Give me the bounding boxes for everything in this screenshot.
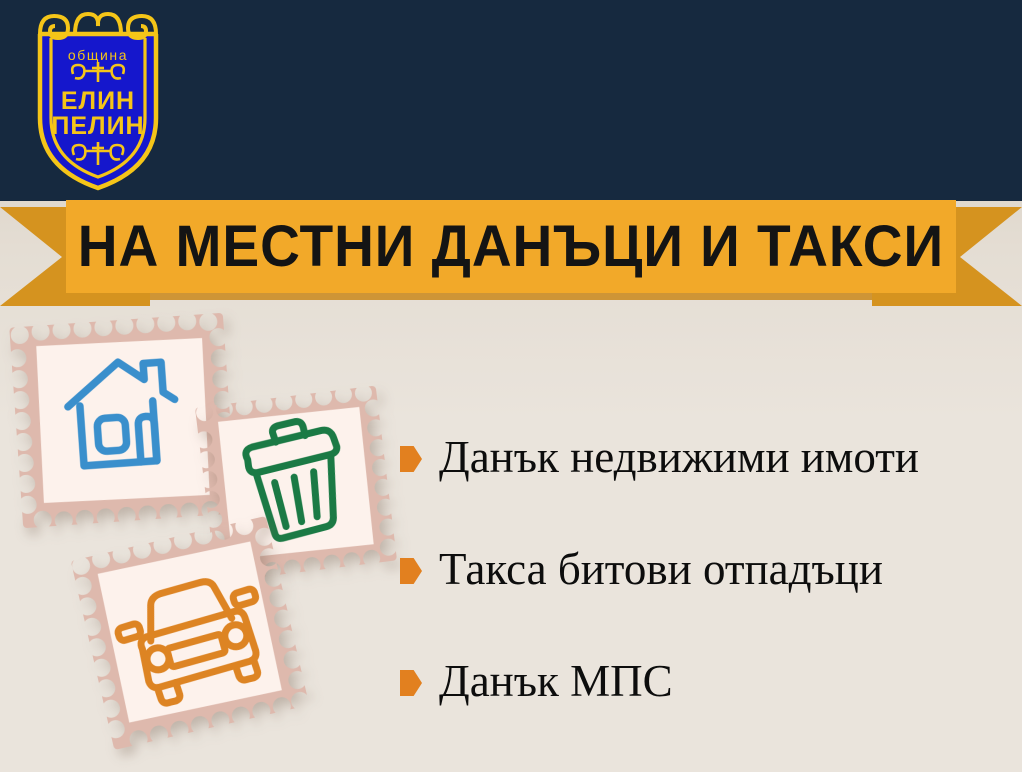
list-item[interactable]: Такса битови отпадъци <box>400 537 1010 601</box>
tax-types-list: Данък недвижими имоти Такса битови отпад… <box>400 425 1010 713</box>
list-item[interactable]: Данък недвижими имоти <box>400 425 1010 489</box>
list-item-label: Данък недвижими имоти <box>439 432 919 482</box>
ribbon-main-panel: НА МЕСТНИ ДАНЪЦИ И ТАКСИ <box>66 200 956 293</box>
arrow-bullet-icon <box>400 670 422 696</box>
ribbon-label: НА МЕСТНИ ДАНЪЦИ И ТАКСИ <box>78 218 944 276</box>
list-item[interactable]: Данък МПС <box>400 649 1010 713</box>
arrow-bullet-icon <box>400 446 422 472</box>
svg-text:община: община <box>68 47 128 63</box>
arrow-bullet-icon <box>400 558 422 584</box>
municipality-logo: община ЕЛИН ПЕЛИН <box>18 8 178 193</box>
list-item-label: Такса битови отпадъци <box>439 544 883 594</box>
car-stamp <box>68 514 311 753</box>
svg-text:ЕЛИН: ЕЛИН <box>61 87 135 115</box>
list-item-label: Данък МПС <box>439 656 673 706</box>
poster-canvas: ПРОВЕРКА И ПЛАЩАНЕ НА ЗАДЪЛЖЕНИЯ община <box>0 0 1022 772</box>
ribbon-banner: НА МЕСТНИ ДАНЪЦИ И ТАКСИ <box>0 200 1022 312</box>
svg-text:ПЕЛИН: ПЕЛИН <box>51 112 144 140</box>
